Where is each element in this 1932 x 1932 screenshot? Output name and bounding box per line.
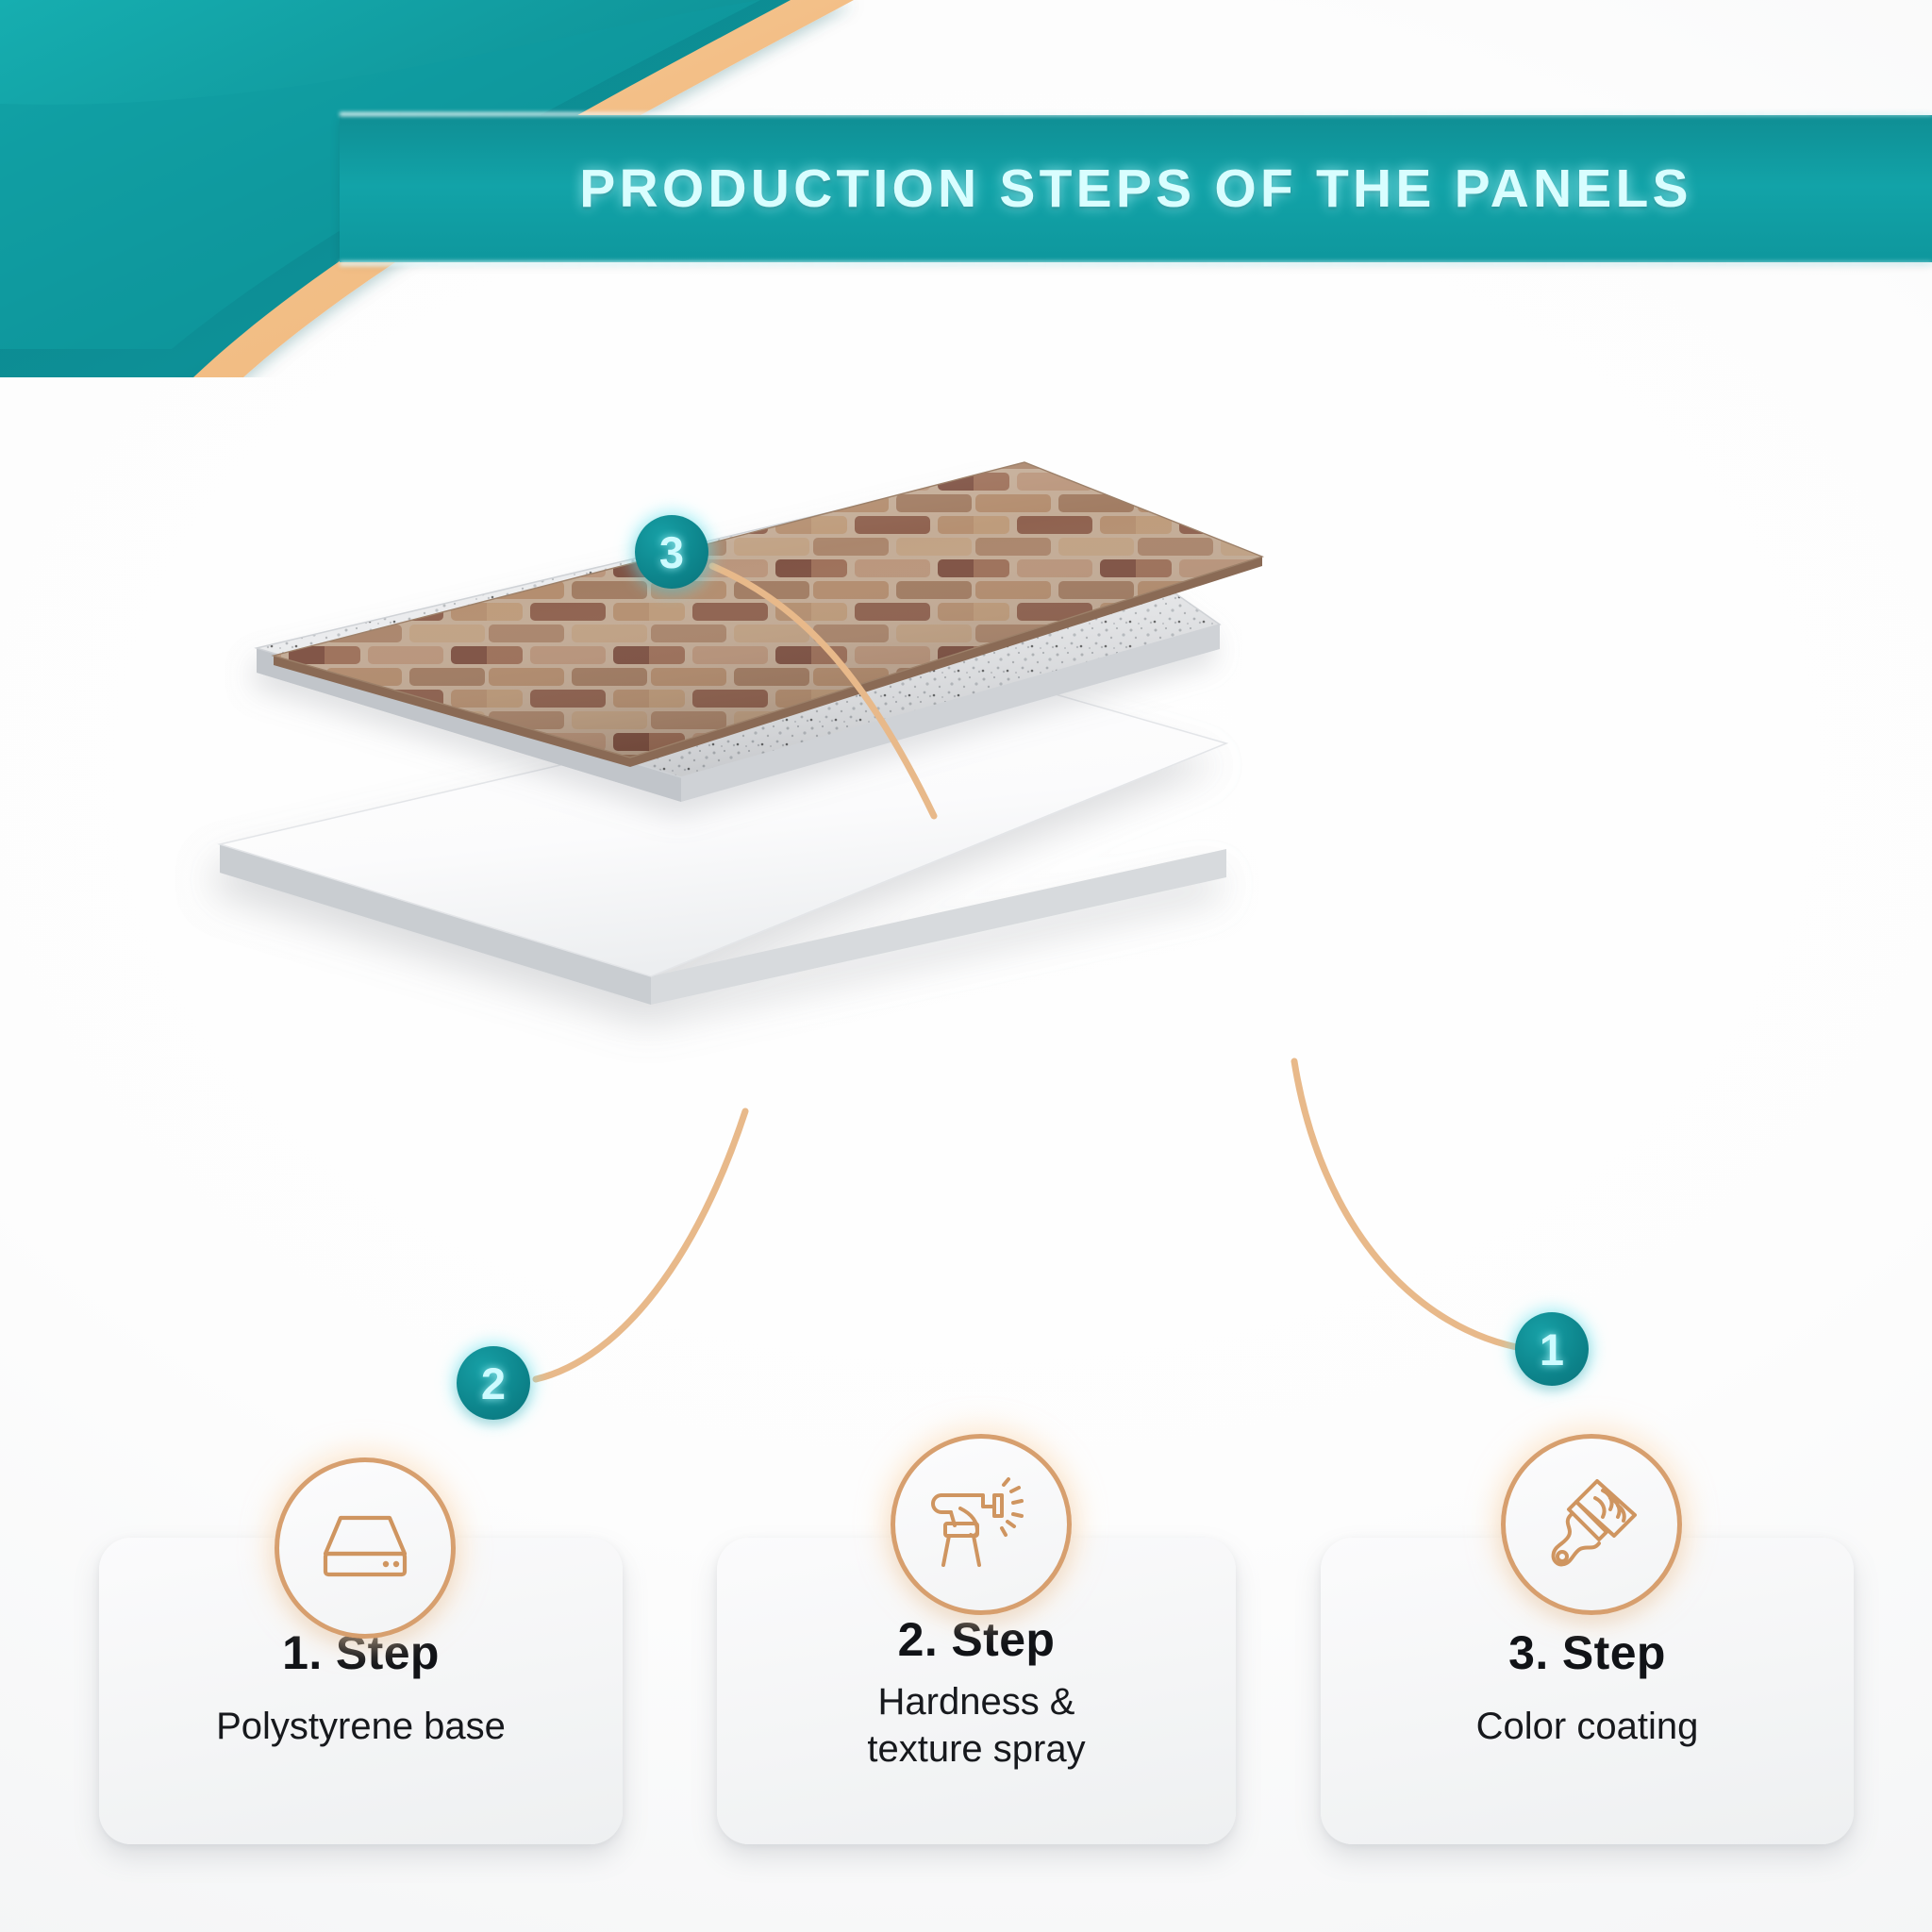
step-1-icon-badge [275, 1457, 456, 1639]
panel-slab-icon [316, 1505, 414, 1591]
step-3-icon-badge [1501, 1434, 1682, 1615]
spray-bottle-icon [928, 1476, 1034, 1573]
infographic-canvas: PRODUCTION STEPS OF THE PANELS [0, 0, 1932, 1932]
step-card-3-title: 3. Step [1508, 1628, 1666, 1678]
title-bar: PRODUCTION STEPS OF THE PANELS [340, 115, 1932, 262]
step-card-1-subtitle: Polystyrene base [216, 1703, 506, 1750]
panel-layer-stack [0, 406, 1932, 1123]
callout-badge-2[interactable]: 2 [457, 1346, 530, 1420]
step-card-2-subtitle-line2: texture spray [867, 1728, 1085, 1770]
callout-badge-1[interactable]: 1 [1515, 1312, 1589, 1386]
step-card-2-subtitle-line1: Hardness & [878, 1681, 1075, 1723]
page-title: PRODUCTION STEPS OF THE PANELS [340, 115, 1932, 262]
step-card-2-subtitle: Hardness & texture spray [867, 1678, 1085, 1774]
paint-brush-icon [1541, 1474, 1642, 1575]
step-2-icon-badge [891, 1434, 1072, 1615]
step-card-3-subtitle: Color coating [1476, 1703, 1699, 1750]
step-card-2-title: 2. Step [898, 1615, 1056, 1665]
callout-badge-3[interactable]: 3 [635, 515, 708, 589]
